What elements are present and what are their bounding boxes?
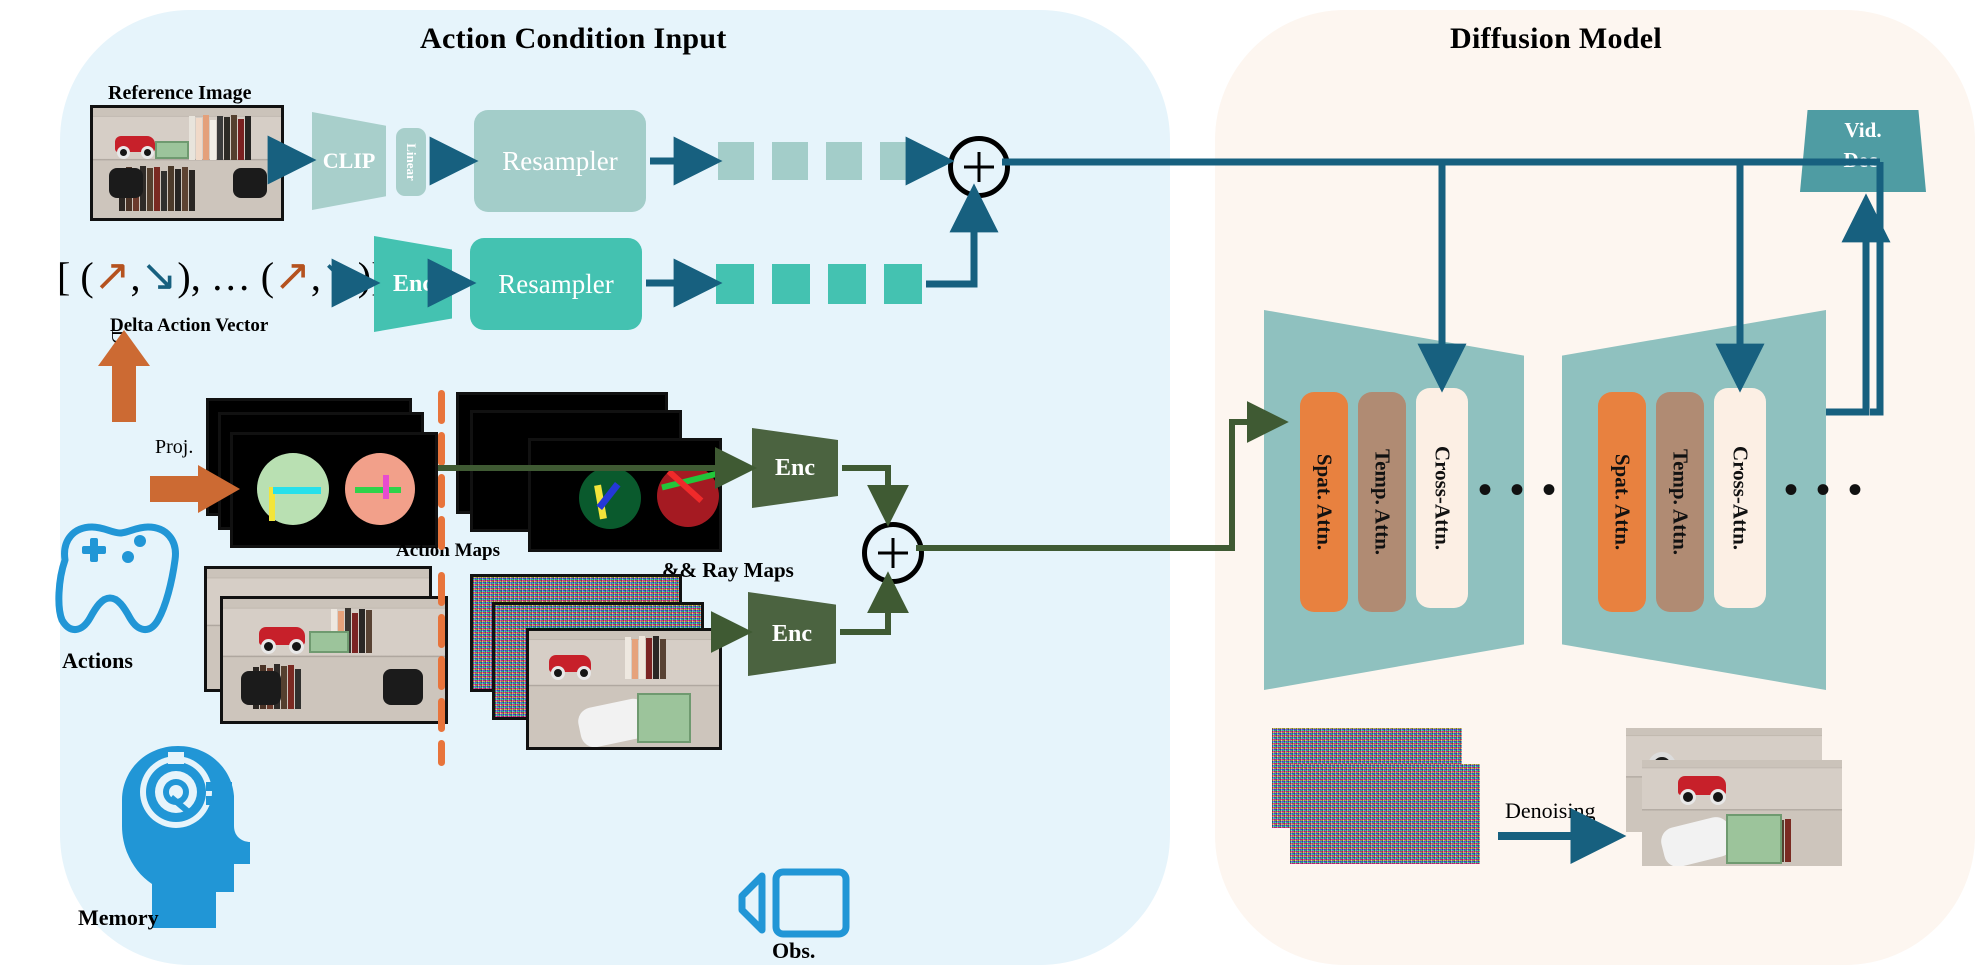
cross-attn-label-1: Cross-Attn. [1430, 446, 1455, 550]
enc-action-maps-label: Enc [752, 428, 838, 508]
delta-arrow-label: Delta [106, 330, 128, 371]
image-token [880, 142, 916, 180]
action-token [828, 264, 866, 304]
unet-block-2-ellipsis: • • • [1784, 466, 1866, 513]
obs-frame-front [526, 628, 722, 750]
spat-attn-label-1: Spat. Attn. [1312, 454, 1337, 550]
sum-node-latent [862, 522, 924, 584]
reference-image-label: Reference Image [108, 82, 251, 105]
ray-map-frame-front [528, 438, 722, 552]
image-token [718, 142, 754, 180]
image-token [826, 142, 862, 180]
resampler-top-block: Resampler [474, 110, 646, 212]
denoising-label: Denoising [1505, 798, 1595, 824]
action-maps-label: Action Maps [396, 540, 500, 562]
unet-block-1-ellipsis: • • • [1478, 466, 1560, 513]
spat-attn-block-1: Spat. Attn. [1300, 392, 1348, 612]
obs-label: Obs. [772, 938, 815, 964]
action-encoder-block: Enc [374, 236, 452, 332]
clip-encoder-block: CLIP [312, 112, 386, 210]
vid-dec-label-line2: Dec. [1800, 148, 1926, 173]
memory-label: Memory [78, 905, 159, 931]
action-token [772, 264, 810, 304]
temp-attn-block-1: Temp. Attn. [1358, 392, 1406, 612]
resampler-bottom-label: Resampler [470, 238, 642, 330]
clip-label: CLIP [312, 112, 386, 210]
spat-attn-label-2: Spat. Attn. [1610, 454, 1635, 550]
memory-frame-front [220, 596, 448, 724]
spat-attn-block-2: Spat. Attn. [1598, 392, 1646, 612]
action-map-frame-front [230, 432, 438, 548]
temp-attn-block-2: Temp. Attn. [1656, 392, 1704, 612]
video-decoder-block: Vid. Dec. [1800, 110, 1926, 192]
cross-attn-block-2: Cross-Attn. [1714, 388, 1766, 608]
temp-attn-label-2: Temp. Attn. [1668, 449, 1693, 555]
delta-action-vector-label: Delta Action Vector [110, 315, 268, 337]
action-token [884, 264, 922, 304]
enc-obs-label: Enc [748, 592, 836, 676]
reference-image-photo [90, 105, 284, 221]
enc-obs-block: Enc [748, 592, 836, 676]
linear-label: Linear [403, 143, 419, 181]
action-token [716, 264, 754, 304]
temp-attn-label-1: Temp. Attn. [1370, 449, 1395, 555]
actions-label: Actions [62, 648, 133, 674]
enc-action-label: Enc [374, 236, 452, 332]
panel-title-diffusion-model: Diffusion Model [1450, 22, 1662, 56]
linear-block: Linear [396, 128, 426, 196]
clean-output-frame-front [1642, 760, 1842, 866]
noisy-output-frame-front [1290, 764, 1480, 864]
delta-action-vector-expression: [ (↗,↘), … (↗,↘)] [57, 250, 384, 301]
resampler-top-label: Resampler [474, 110, 646, 212]
enc-action-maps-block: Enc [752, 428, 838, 508]
image-token [772, 142, 808, 180]
panel-title-action-condition-input: Action Condition Input [420, 22, 727, 56]
sum-node-condition [948, 136, 1010, 198]
resampler-bottom-block: Resampler [470, 238, 642, 330]
cross-attn-label-2: Cross-Attn. [1728, 446, 1753, 550]
vid-dec-label-line1: Vid. [1800, 118, 1926, 143]
cross-attn-block-1: Cross-Attn. [1416, 388, 1468, 608]
proj-arrow-label: Proj. [155, 436, 193, 459]
